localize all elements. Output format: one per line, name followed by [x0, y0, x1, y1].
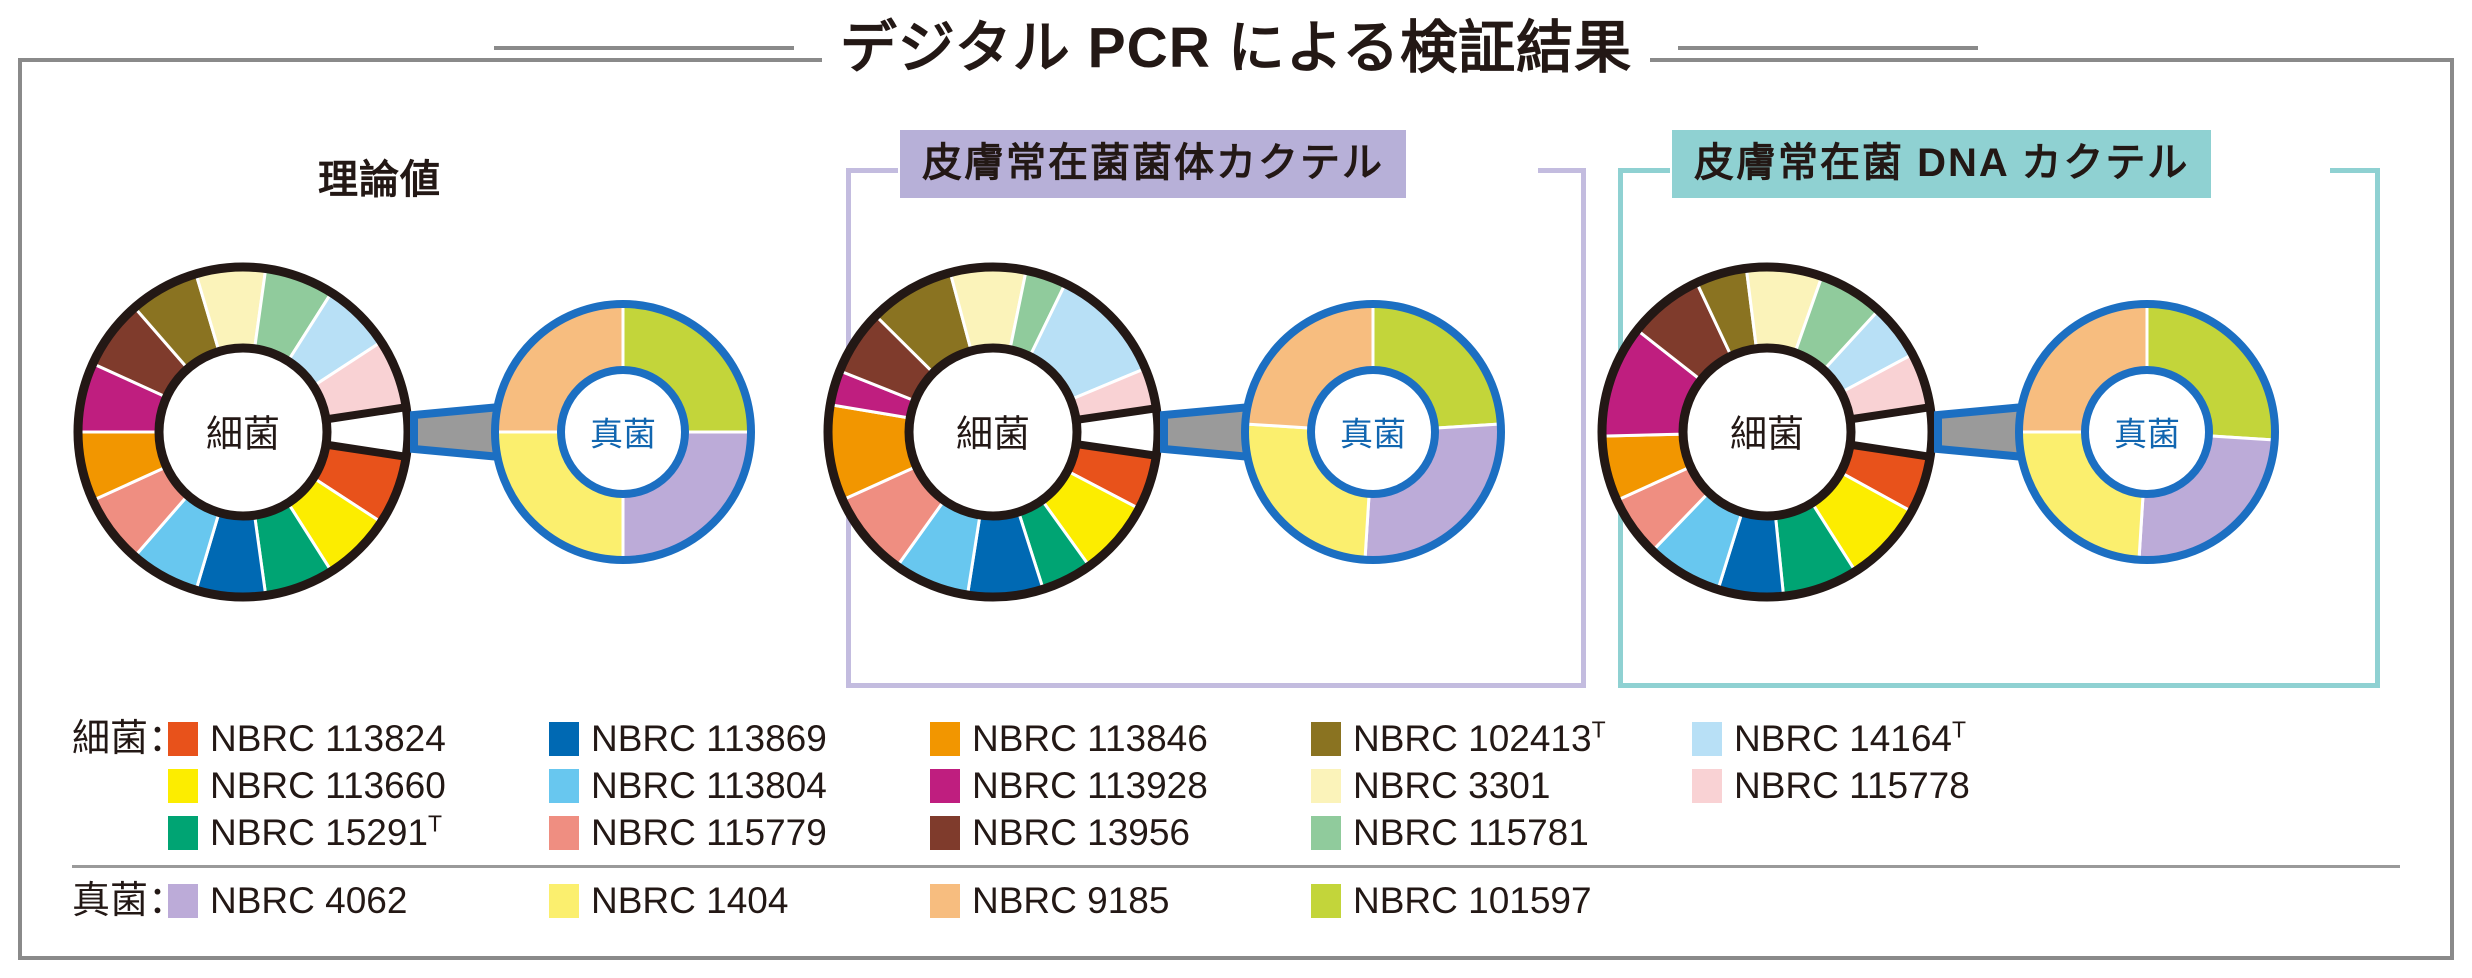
legend-swatch [1692, 722, 1722, 756]
legend-item-empty [2073, 716, 2454, 761]
legend-item-label: NBRC 113869 [591, 716, 827, 761]
legend-item-label: NBRC 113660 [210, 763, 446, 808]
panel-heading-cell-cocktail: 皮膚常在菌菌体カクテル [900, 130, 1406, 198]
legend-item-label: NBRC 113824 [210, 716, 446, 761]
fungi-center-label: 真菌 [2114, 416, 2180, 453]
legend-swatch [930, 769, 960, 803]
legend-item[interactable]: NBRC 3301 [1311, 763, 1692, 808]
legend: 細菌： NBRC 113824NBRC 113869NBRC 113846NBR… [18, 712, 2454, 929]
figure-title-row: デジタル PCR による検証結果 [0, 0, 2472, 96]
title-rule-right [1678, 46, 1978, 50]
legend-swatch [168, 884, 198, 918]
legend-item[interactable]: NBRC 113869 [549, 716, 930, 761]
legend-item[interactable]: NBRC 102413T [1311, 716, 1692, 761]
legend-item[interactable]: NBRC 113928 [930, 763, 1311, 808]
bacteria-donut: 細菌 [1602, 267, 1932, 597]
legend-item[interactable]: NBRC 115781 [1311, 810, 1692, 855]
bacteria-center-label: 細菌 [206, 414, 280, 455]
type-strain-marker: T [428, 811, 442, 837]
panel-heading-dna-cocktail: 皮膚常在菌 DNA カクテル [1672, 130, 2211, 198]
fungi-donut: 真菌 [2019, 304, 2275, 560]
legend-item[interactable]: NBRC 13956 [930, 810, 1311, 855]
donut-group-dna-cocktail: 細菌真菌 [1582, 220, 2372, 665]
legend-item-label: NBRC 4062 [210, 878, 407, 923]
legend-item-label: NBRC 115778 [1734, 763, 1970, 808]
fungi-center-label: 真菌 [1340, 416, 1406, 453]
legend-swatch [930, 722, 960, 756]
fungi-donut: 真菌 [1245, 304, 1501, 560]
legend-swatch [1311, 884, 1341, 918]
legend-item-label: NBRC 15291T [210, 810, 442, 855]
legend-item-empty [2073, 763, 2454, 808]
type-strain-marker: T [1952, 717, 1966, 743]
legend-item[interactable]: NBRC 101597 [1311, 878, 1692, 923]
legend-item[interactable]: NBRC 115779 [549, 810, 930, 855]
legend-item[interactable]: NBRC 115778 [1692, 763, 2073, 808]
legend-swatch [549, 722, 579, 756]
legend-swatch [930, 816, 960, 850]
page-title: デジタル PCR による検証結果 [822, 20, 1650, 77]
legend-bacteria-grid: NBRC 113824NBRC 113869NBRC 113846NBRC 10… [168, 716, 2454, 855]
legend-item[interactable]: NBRC 113846 [930, 716, 1311, 761]
legend-item[interactable]: NBRC 4062 [168, 878, 549, 923]
donut-group-cell-cocktail: 細菌真菌 [808, 220, 1598, 665]
legend-item-label: NBRC 113804 [591, 763, 827, 808]
bacteria-donut: 細菌 [78, 267, 408, 597]
type-strain-marker: T [1592, 717, 1606, 743]
legend-item-label: NBRC 13956 [972, 810, 1190, 855]
panels-container: 理論値 細菌真菌 皮膚常在菌菌体カクテル 細菌真菌 皮膚常在菌 DNA カクテル… [18, 130, 2454, 710]
donut-chart-svg: 細菌真菌 [58, 220, 848, 660]
legend-item-label: NBRC 9185 [972, 878, 1169, 923]
title-rule-left [494, 46, 794, 50]
legend-swatch [1311, 769, 1341, 803]
legend-swatch [930, 884, 960, 918]
legend-item[interactable]: NBRC 113824 [168, 716, 549, 761]
legend-fungi-label: 真菌： [18, 878, 168, 924]
legend-item-label: NBRC 14164T [1734, 716, 1966, 761]
legend-swatch [1692, 769, 1722, 803]
legend-swatch [1311, 816, 1341, 850]
fungi-donut: 真菌 [495, 304, 751, 560]
legend-item[interactable]: NBRC 15291T [168, 810, 549, 855]
donut-chart-svg: 細菌真菌 [808, 220, 1598, 660]
legend-fungi-block: 真菌： NBRC 4062NBRC 1404NBRC 9185NBRC 1015… [18, 874, 2454, 928]
legend-swatch [168, 769, 198, 803]
legend-item[interactable]: NBRC 14164T [1692, 716, 2073, 761]
legend-swatch [168, 816, 198, 850]
legend-item[interactable]: NBRC 9185 [930, 878, 1311, 923]
legend-bacteria-label: 細菌： [18, 716, 168, 762]
legend-item-label: NBRC 113846 [972, 716, 1208, 761]
panel-heading-theoretical: 理論値 [308, 156, 451, 204]
figure-root: デジタル PCR による検証結果 理論値 細菌真菌 皮膚常在菌菌体カクテル 細菌… [0, 0, 2472, 978]
legend-swatch [168, 722, 198, 756]
legend-item[interactable]: NBRC 113804 [549, 763, 930, 808]
legend-item-label: NBRC 115779 [591, 810, 827, 855]
legend-item-label: NBRC 113928 [972, 763, 1208, 808]
legend-item[interactable]: NBRC 1404 [549, 878, 930, 923]
legend-item-label: NBRC 3301 [1353, 763, 1550, 808]
legend-swatch [1311, 722, 1341, 756]
legend-item-label: NBRC 115781 [1353, 810, 1589, 855]
legend-item-label: NBRC 1404 [591, 878, 788, 923]
fungi-center-label: 真菌 [590, 416, 656, 453]
legend-fungi-grid: NBRC 4062NBRC 1404NBRC 9185NBRC 101597 [168, 878, 2454, 923]
legend-item[interactable]: NBRC 113660 [168, 763, 549, 808]
legend-item-label: NBRC 101597 [1353, 878, 1592, 923]
bacteria-center-label: 細菌 [1730, 414, 1804, 455]
legend-swatch [549, 884, 579, 918]
legend-swatch [549, 769, 579, 803]
legend-item-empty [1692, 810, 2073, 855]
bacteria-center-label: 細菌 [956, 414, 1030, 455]
legend-item-label: NBRC 102413T [1353, 716, 1606, 761]
legend-swatch [549, 816, 579, 850]
donut-group-theoretical: 細菌真菌 [58, 220, 848, 665]
bacteria-donut: 細菌 [828, 267, 1158, 597]
legend-bacteria-block: 細菌： NBRC 113824NBRC 113869NBRC 113846NBR… [18, 712, 2454, 859]
legend-item-empty [2073, 810, 2454, 855]
legend-divider [72, 865, 2400, 868]
donut-chart-svg: 細菌真菌 [1582, 220, 2372, 660]
